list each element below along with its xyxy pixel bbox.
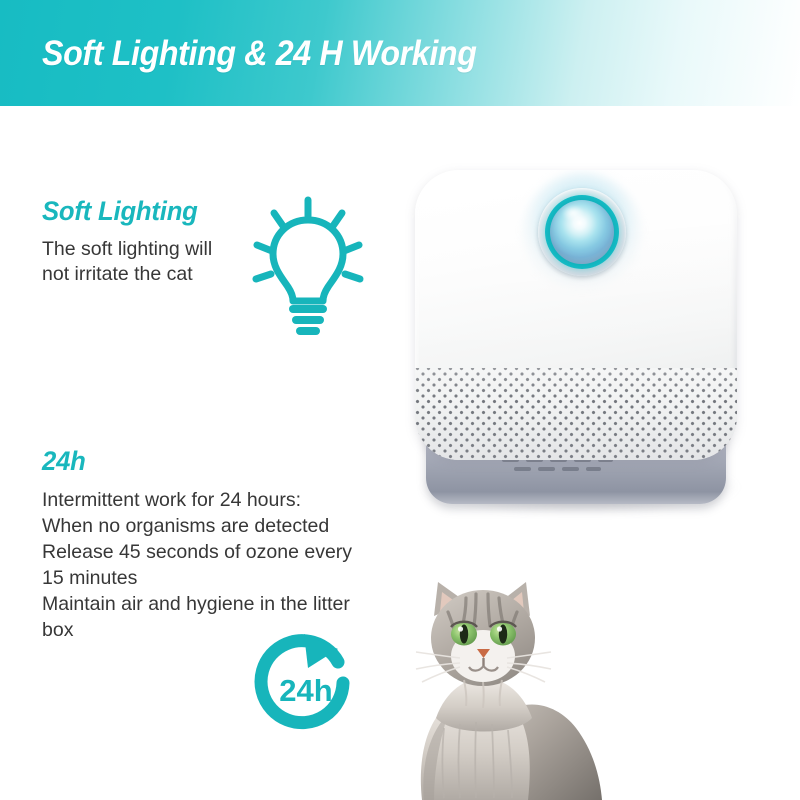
product-device-image (404, 160, 752, 520)
lightbulb-icon (252, 196, 364, 338)
page-title: Soft Lighting & 24 H Working (42, 34, 477, 74)
product-feature-page: Soft Lighting & 24 H Working Soft Lighti… (0, 0, 800, 800)
power-indicator-button[interactable] (538, 188, 626, 276)
feature-heading-24h: 24h (42, 446, 394, 477)
header-banner: Soft Lighting & 24 H Working (0, 0, 800, 106)
cycle-24h-icon-label: 24h (279, 673, 332, 708)
indicator-specular-highlight (562, 205, 584, 221)
cat-photo (404, 568, 646, 800)
device-perforated-vent (415, 368, 737, 460)
feature-block-24h: 24h Intermittent work for 24 hours: When… (42, 446, 412, 643)
feature-body-24h: Intermittent work for 24 hours: When no … (42, 487, 412, 643)
vent-shading (415, 368, 737, 460)
cycle-24h-icon: 24h (246, 626, 366, 744)
device-body (415, 170, 737, 460)
